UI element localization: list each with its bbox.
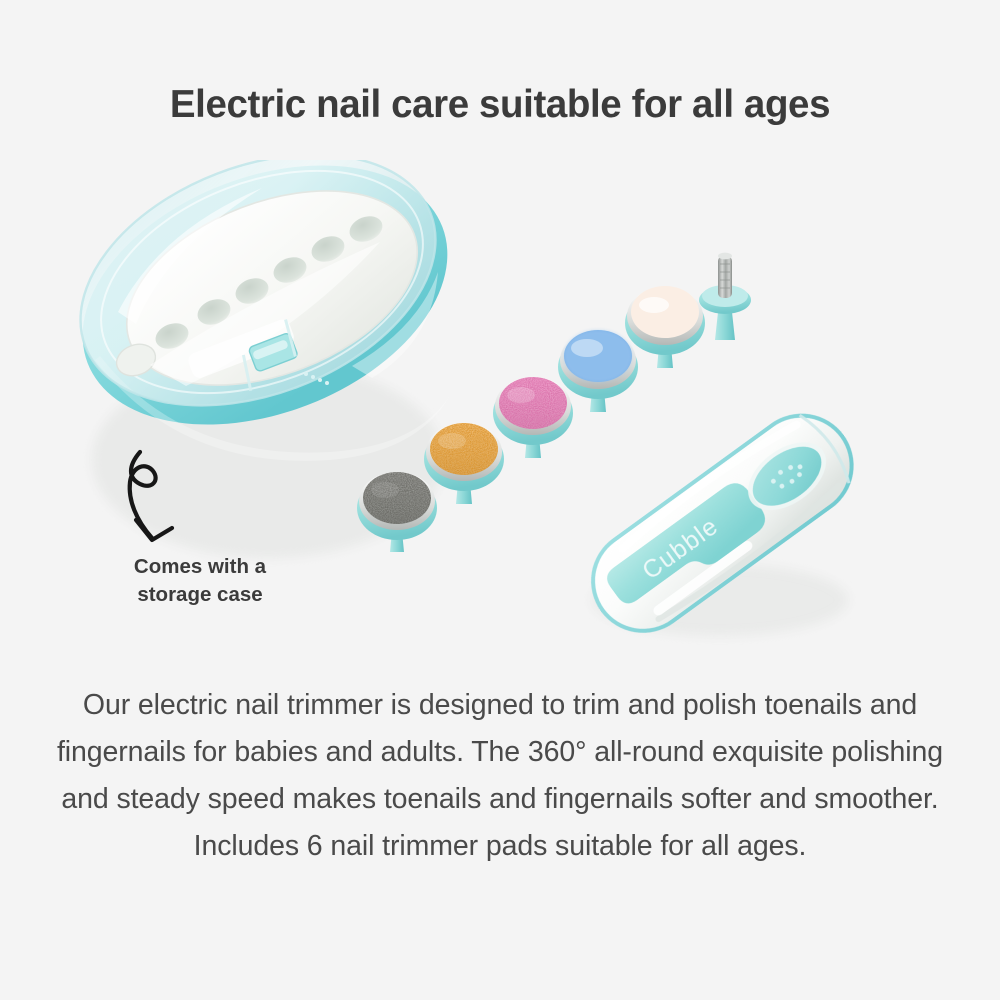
- pad-cream-buffer: [625, 286, 705, 368]
- callout-line-1: Comes with a: [60, 553, 340, 581]
- pad-metal-grinder: [699, 253, 751, 340]
- callout-line-2: storage case: [60, 581, 340, 609]
- pad-orange-grit: [424, 423, 504, 504]
- callout-caption: Comes with a storage case: [60, 553, 340, 610]
- page-title: Electric nail care suitable for all ages: [0, 84, 1000, 126]
- product-marketing-page: Electric nail care suitable for all ages: [0, 0, 1000, 1000]
- product-description: Our electric nail trimmer is designed to…: [50, 682, 950, 870]
- pad-pink-grit: [493, 377, 573, 458]
